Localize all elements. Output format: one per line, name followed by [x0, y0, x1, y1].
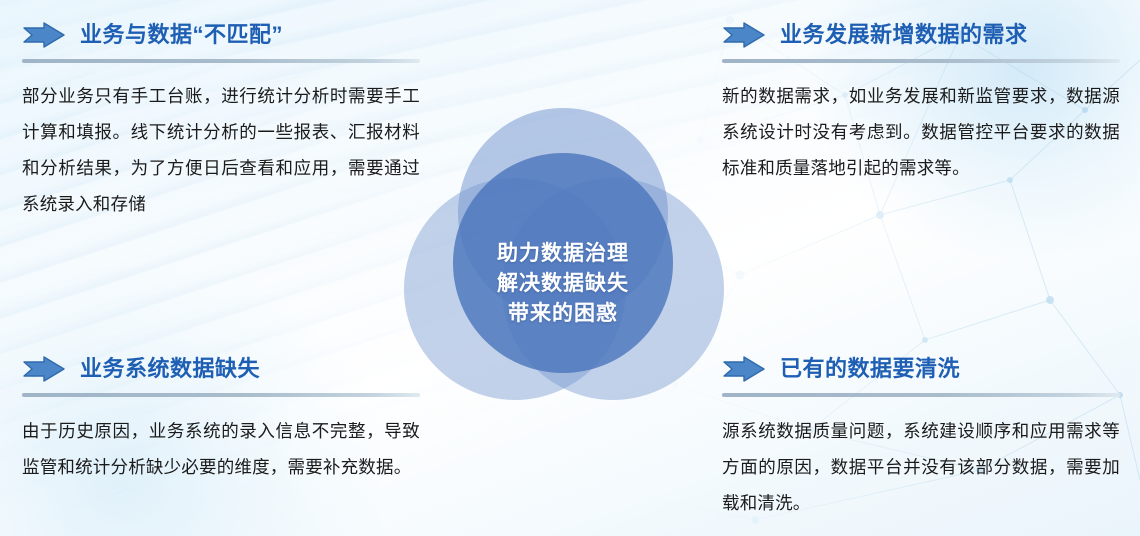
quadrant-header: 业务与数据“不匹配” [22, 16, 420, 54]
quadrant-divider [722, 393, 1120, 397]
arrow-right-icon [722, 356, 766, 382]
arrow-right-icon [22, 22, 66, 48]
quadrant-divider [22, 59, 420, 63]
quadrant-body: 源系统数据质量问题，系统建设顺序和应用需求等方面的原因，数据平台并没有该部分数据… [722, 413, 1120, 521]
quadrant-top-left: 业务与数据“不匹配” 部分业务只有手工台账，进行统计分析时需要手工计算和填报。线… [22, 16, 420, 222]
central-circles: 助力数据治理 解决数据缺失 带来的困惑 [398, 108, 728, 418]
quadrant-top-right: 业务发展新增数据的需求 新的数据需求，如业务发展和新监管要求，数据源系统设计时没… [722, 16, 1120, 186]
quadrant-title: 业务系统数据缺失 [80, 358, 260, 380]
quadrant-body: 由于历史原因，业务系统的录入信息不完整，导致监管和统计分析缺少必要的维度，需要补… [22, 413, 420, 485]
quadrant-header: 业务发展新增数据的需求 [722, 16, 1120, 54]
quadrant-bottom-left: 业务系统数据缺失 由于历史原因，业务系统的录入信息不完整，导致监管和统计分析缺少… [22, 350, 420, 485]
infographic-slide: 业务与数据“不匹配” 部分业务只有手工台账，进行统计分析时需要手工计算和填报。线… [0, 0, 1140, 536]
central-label: 助力数据治理 解决数据缺失 带来的困惑 [398, 108, 728, 418]
quadrant-header: 业务系统数据缺失 [22, 350, 420, 388]
quadrant-title: 业务发展新增数据的需求 [780, 24, 1028, 46]
central-label-line-3: 带来的困惑 [508, 299, 618, 329]
quadrant-header: 已有的数据要清洗 [722, 350, 1120, 388]
central-label-line-2: 解决数据缺失 [497, 269, 629, 299]
quadrant-title: 业务与数据“不匹配” [80, 24, 283, 46]
arrow-right-icon [722, 22, 766, 48]
quadrant-title: 已有的数据要清洗 [780, 358, 960, 380]
quadrant-body: 新的数据需求，如业务发展和新监管要求，数据源系统设计时没有考虑到。数据管控平台要… [722, 78, 1120, 186]
quadrant-body: 部分业务只有手工台账，进行统计分析时需要手工计算和填报。线下统计分析的一些报表、… [22, 78, 420, 222]
arrow-right-icon [22, 356, 66, 382]
quadrant-bottom-right: 已有的数据要清洗 源系统数据质量问题，系统建设顺序和应用需求等方面的原因，数据平… [722, 350, 1120, 521]
quadrant-divider [722, 59, 1120, 63]
central-label-line-1: 助力数据治理 [497, 239, 629, 269]
quadrant-divider [22, 393, 420, 397]
